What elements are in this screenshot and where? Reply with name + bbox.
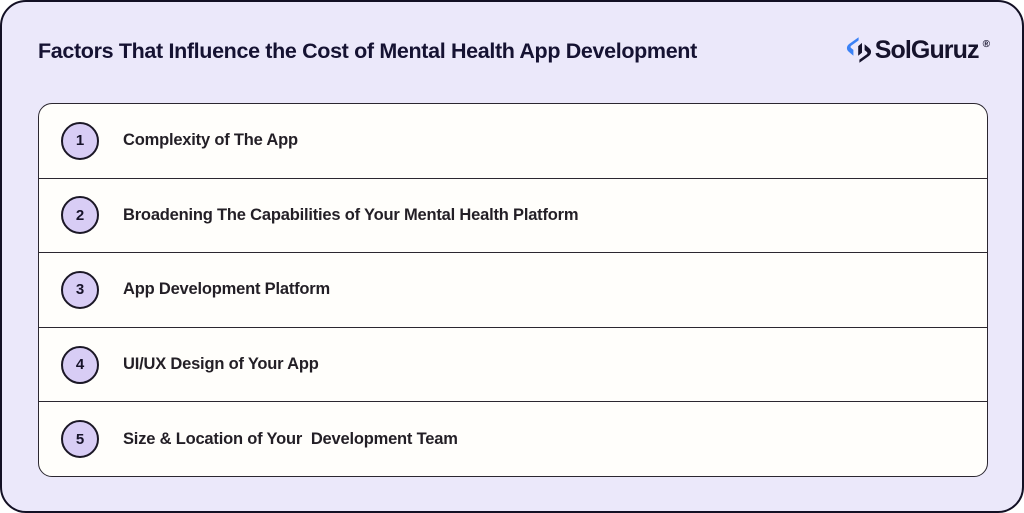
factors-list-card: 1 Complexity of The App 2 Broadening The… (38, 103, 988, 477)
page-title: Factors That Influence the Cost of Menta… (38, 39, 697, 64)
list-item-label: UI/UX Design of Your App (123, 355, 319, 374)
list-item[interactable]: 2 Broadening The Capabilities of Your Me… (39, 179, 987, 254)
list-item-number-badge: 4 (61, 346, 99, 384)
list-item-label: Complexity of The App (123, 131, 298, 150)
solguruz-s-mark-icon (846, 36, 872, 64)
list-item[interactable]: 5 Size & Location of Your Development Te… (39, 402, 987, 476)
list-item-number-badge: 1 (61, 122, 99, 160)
list-item[interactable]: 1 Complexity of The App (39, 104, 987, 179)
list-item[interactable]: 4 UI/UX Design of Your App (39, 328, 987, 403)
header: Factors That Influence the Cost of Menta… (38, 28, 990, 74)
brand-name: SolGuruz (875, 38, 979, 63)
list-item-number-badge: 3 (61, 271, 99, 309)
list-item-number-badge: 2 (61, 196, 99, 234)
list-item[interactable]: 3 App Development Platform (39, 253, 987, 328)
brand-logo: SolGuruz ® (846, 36, 990, 64)
list-item-label: Broadening The Capabilities of Your Ment… (123, 206, 578, 225)
registered-trademark-icon: ® (983, 39, 990, 50)
list-item-label: Size & Location of Your Development Team (123, 430, 458, 449)
infographic-canvas: Factors That Influence the Cost of Menta… (0, 0, 1024, 513)
list-item-label: App Development Platform (123, 280, 330, 299)
list-item-number-badge: 5 (61, 420, 99, 458)
